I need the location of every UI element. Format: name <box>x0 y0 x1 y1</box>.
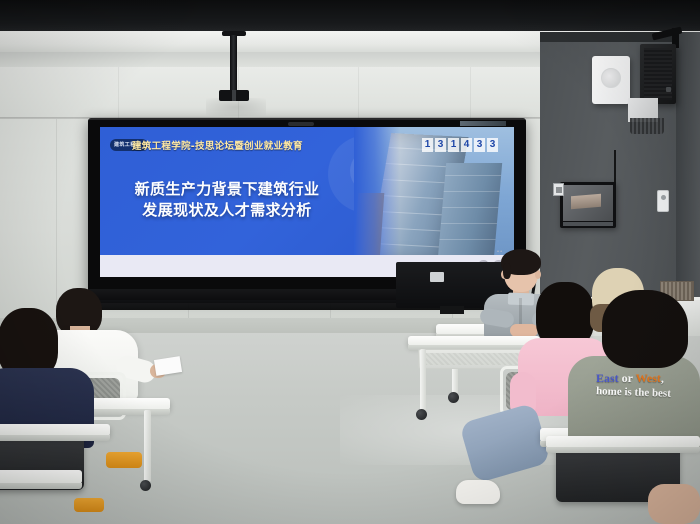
slide-number-6: 3 <box>487 138 498 152</box>
speaker-logo <box>666 87 671 92</box>
student-gray-head <box>602 290 688 368</box>
slide-title: 新质生产力背景下建筑行业 发展现状及人才需求分析 <box>112 179 342 222</box>
tshirt-comma: , <box>661 371 664 385</box>
tshirt-word-west: West <box>636 371 661 385</box>
tshirt-graphic: East or West, home is the best <box>596 372 700 399</box>
slide-number-3: 1 <box>448 138 459 152</box>
slide-number-5: 3 <box>474 138 485 152</box>
row2-desk-leg <box>420 349 426 411</box>
student-pink-shoe <box>456 480 500 504</box>
projector-rod <box>230 35 237 92</box>
wall-sensor-icon[interactable] <box>657 190 669 212</box>
desk-caster <box>448 392 459 403</box>
slide-title-line-1: 新质生产力背景下建筑行业 <box>112 179 342 200</box>
speaker-cone <box>601 68 621 88</box>
slide-header: 建筑工程 建筑工程学院-技思论坛暨创业就业教育 1 3 1 4 3 3 <box>110 138 504 154</box>
flag-image <box>571 194 601 210</box>
wall-monitor[interactable] <box>560 182 616 228</box>
ceiling-dark-band <box>0 0 700 32</box>
display-screen[interactable]: 建筑工程 建筑工程学院-技思论坛暨创业就业教育 1 3 1 4 3 3 新质生产… <box>100 127 514 277</box>
slide-number-1: 1 <box>422 138 433 152</box>
presentation-slide: 建筑工程 建筑工程学院-技思论坛暨创业就业教育 1 3 1 4 3 3 新质生产… <box>100 127 514 277</box>
tshirt-line-2: home is the best <box>596 385 700 401</box>
projector-icon <box>219 90 249 101</box>
tshirt-line-1: East or West, <box>596 372 700 386</box>
wall-monitor-screen <box>563 185 613 221</box>
left-front-desk <box>0 424 110 436</box>
front-right-desktop <box>546 436 700 448</box>
black-speaker-icon <box>640 44 676 104</box>
wall-plate[interactable] <box>553 183 564 196</box>
display-bezel-highlight <box>88 118 526 120</box>
slide-number-2: 3 <box>435 138 446 152</box>
cable-bundle <box>630 118 664 134</box>
student-foreground-arm <box>648 484 700 524</box>
chair-seat[interactable] <box>106 452 142 468</box>
back-monitor-stand <box>440 306 464 314</box>
desk-caster <box>416 409 427 420</box>
left-front-desk-lower <box>0 470 82 484</box>
back-monitor-label <box>430 272 444 282</box>
chair-seat[interactable] <box>74 498 104 512</box>
slide-title-line-2: 发展现状及人才需求分析 <box>112 200 342 221</box>
slide-header-title: 建筑工程学院-技思论坛暨创业就业教育 <box>132 138 303 152</box>
presenter-hair <box>501 249 541 275</box>
wall-monitor-base <box>563 222 613 226</box>
display-ir-sensor <box>288 122 314 126</box>
tshirt-word-or: or <box>619 371 636 385</box>
row2-desk-left <box>408 336 540 346</box>
speaker-grill <box>644 48 672 100</box>
desk-caster <box>140 480 151 491</box>
classroom-scene: 建筑工程 建筑工程学院-技思论坛暨创业就业教育 1 3 1 4 3 3 新质生产… <box>0 0 700 524</box>
slide-number-4: 4 <box>461 138 472 152</box>
skyscraper-secondary <box>438 163 502 255</box>
slide-number-row: 1 3 1 4 3 3 <box>422 138 498 152</box>
white-speaker-icon <box>592 56 630 104</box>
left-row-desk-leg <box>144 410 151 482</box>
tshirt-word-east: East <box>596 371 619 385</box>
display-brand-logo <box>460 121 506 126</box>
